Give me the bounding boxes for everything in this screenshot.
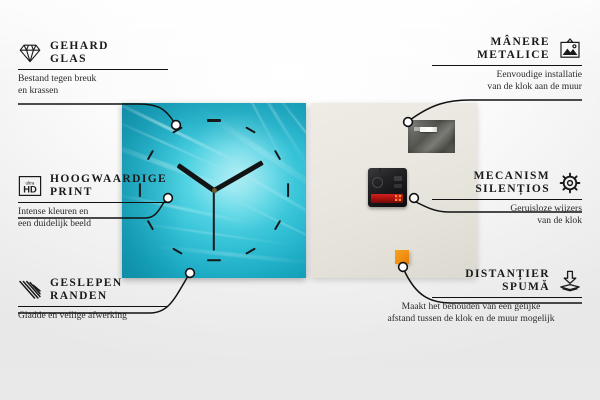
desc-line-1: Geruisloze wijzers	[432, 203, 582, 215]
movement-hook	[379, 168, 395, 173]
title-line-1: GESLEPEN	[50, 277, 123, 290]
product-images	[122, 103, 477, 278]
desc-line-2: afstand tussen de klok en de muur mogeli…	[360, 313, 582, 325]
callout-description: Maakt het behouden van een gelijke afsta…	[360, 301, 582, 326]
clock-tick	[207, 119, 221, 121]
diamond-icon	[18, 42, 42, 64]
callout-title: DISTANȚIER SPUMĂ	[465, 268, 550, 294]
callout-distantier-spuma: DISTANȚIER SPUMĂ Maakt het behouden van …	[432, 268, 582, 326]
infographic-canvas: GEHARD GLAS Bestand tegen breuk en krass…	[0, 0, 600, 400]
callout-description: Intense kleuren en een duidelijk beeld	[18, 206, 168, 231]
callout-rule	[432, 297, 582, 298]
title-line-1: MÂNERE	[477, 36, 550, 49]
second-hand	[213, 189, 215, 251]
desc-line-2: een duidelijk beeld	[18, 218, 168, 230]
callout-geslepen-randen: GESLEPEN RANDEN Gladde en veilige afwerk…	[18, 277, 168, 322]
callout-rule	[18, 69, 168, 70]
bevelled-edge-icon	[18, 279, 42, 301]
title-line-1: DISTANȚIER	[465, 268, 550, 281]
callout-manere-metalice: MÂNERE METALICE Eenvoudige installatie v…	[432, 36, 582, 94]
callout-title: MÂNERE METALICE	[477, 36, 550, 62]
framed-picture-icon	[558, 38, 582, 60]
title-line-2: GLAS	[50, 53, 109, 66]
callout-gehard-glas: GEHARD GLAS Bestand tegen breuk en krass…	[18, 40, 168, 98]
movement-knob	[394, 176, 402, 181]
desc-line-1: Bestand tegen breuk	[18, 73, 168, 85]
callout-rule	[432, 199, 582, 200]
callout-description: Geruisloze wijzers van de klok	[432, 203, 582, 228]
callout-title: GEHARD GLAS	[50, 40, 109, 66]
battery	[371, 194, 403, 203]
desc-line-2: van de klok	[432, 215, 582, 227]
desc-line-2: en krassen	[18, 85, 168, 97]
desc-line-1: Gladde en veilige afwerking	[18, 310, 168, 322]
desc-line-2: van de klok aan de muur	[432, 81, 582, 93]
callout-mecanism-silentios: MECANISM SILENȚIOS Geruisloze wijzers va…	[432, 170, 582, 228]
callout-description: Bestand tegen breuk en krassen	[18, 73, 168, 98]
callout-title-row: MECANISM SILENȚIOS	[432, 170, 582, 196]
title-line-2: SILENȚIOS	[474, 183, 550, 196]
callout-rule	[18, 202, 168, 203]
foam-spacer	[395, 250, 409, 264]
movement-knob-2	[394, 184, 402, 188]
title-line-2: SPUMĂ	[465, 281, 550, 294]
callout-title-row: GEHARD GLAS	[18, 40, 168, 66]
callout-hoogwaardige-print: ultra HD HOOGWAARDIGE PRINT Intense kleu…	[18, 173, 168, 231]
desc-line-1: Maakt het behouden van een gelijke	[360, 301, 582, 313]
callout-description: Eenvoudige installatie van de klok aan d…	[432, 69, 582, 94]
desc-line-1: Intense kleuren en	[18, 206, 168, 218]
callout-rule	[432, 65, 582, 66]
callout-title: MECANISM SILENȚIOS	[474, 170, 550, 196]
ultra-hd-icon: ultra HD	[18, 175, 42, 197]
title-line-1: GEHARD	[50, 40, 109, 53]
callout-title-row: GESLEPEN RANDEN	[18, 277, 168, 303]
hd-label: HD	[23, 183, 37, 194]
callout-title-row: MÂNERE METALICE	[432, 36, 582, 62]
metal-hanger-plate	[408, 120, 455, 153]
callout-rule	[18, 306, 168, 307]
battery-plus-terminal	[395, 195, 401, 201]
callout-title-row: ultra HD HOOGWAARDIGE PRINT	[18, 173, 168, 199]
gear-icon	[558, 172, 582, 194]
title-line-2: PRINT	[50, 186, 167, 199]
callout-title: HOOGWAARDIGE PRINT	[50, 173, 167, 199]
clock-tick	[287, 183, 289, 197]
callout-title: GESLEPEN RANDEN	[50, 277, 123, 303]
callout-description: Gladde en veilige afwerking	[18, 310, 168, 322]
hanger-slot	[420, 127, 437, 132]
arrow-down-layers-icon	[558, 270, 582, 292]
title-line-2: METALICE	[477, 49, 550, 62]
title-line-1: MECANISM	[474, 170, 550, 183]
title-line-1: HOOGWAARDIGE	[50, 173, 167, 186]
movement-dial	[372, 177, 383, 188]
callout-title-row: DISTANȚIER SPUMĂ	[432, 268, 582, 294]
clock-hub	[212, 188, 217, 193]
desc-line-1: Eenvoudige installatie	[432, 69, 582, 81]
quartz-movement-box	[368, 168, 407, 207]
title-line-2: RANDEN	[50, 290, 123, 303]
